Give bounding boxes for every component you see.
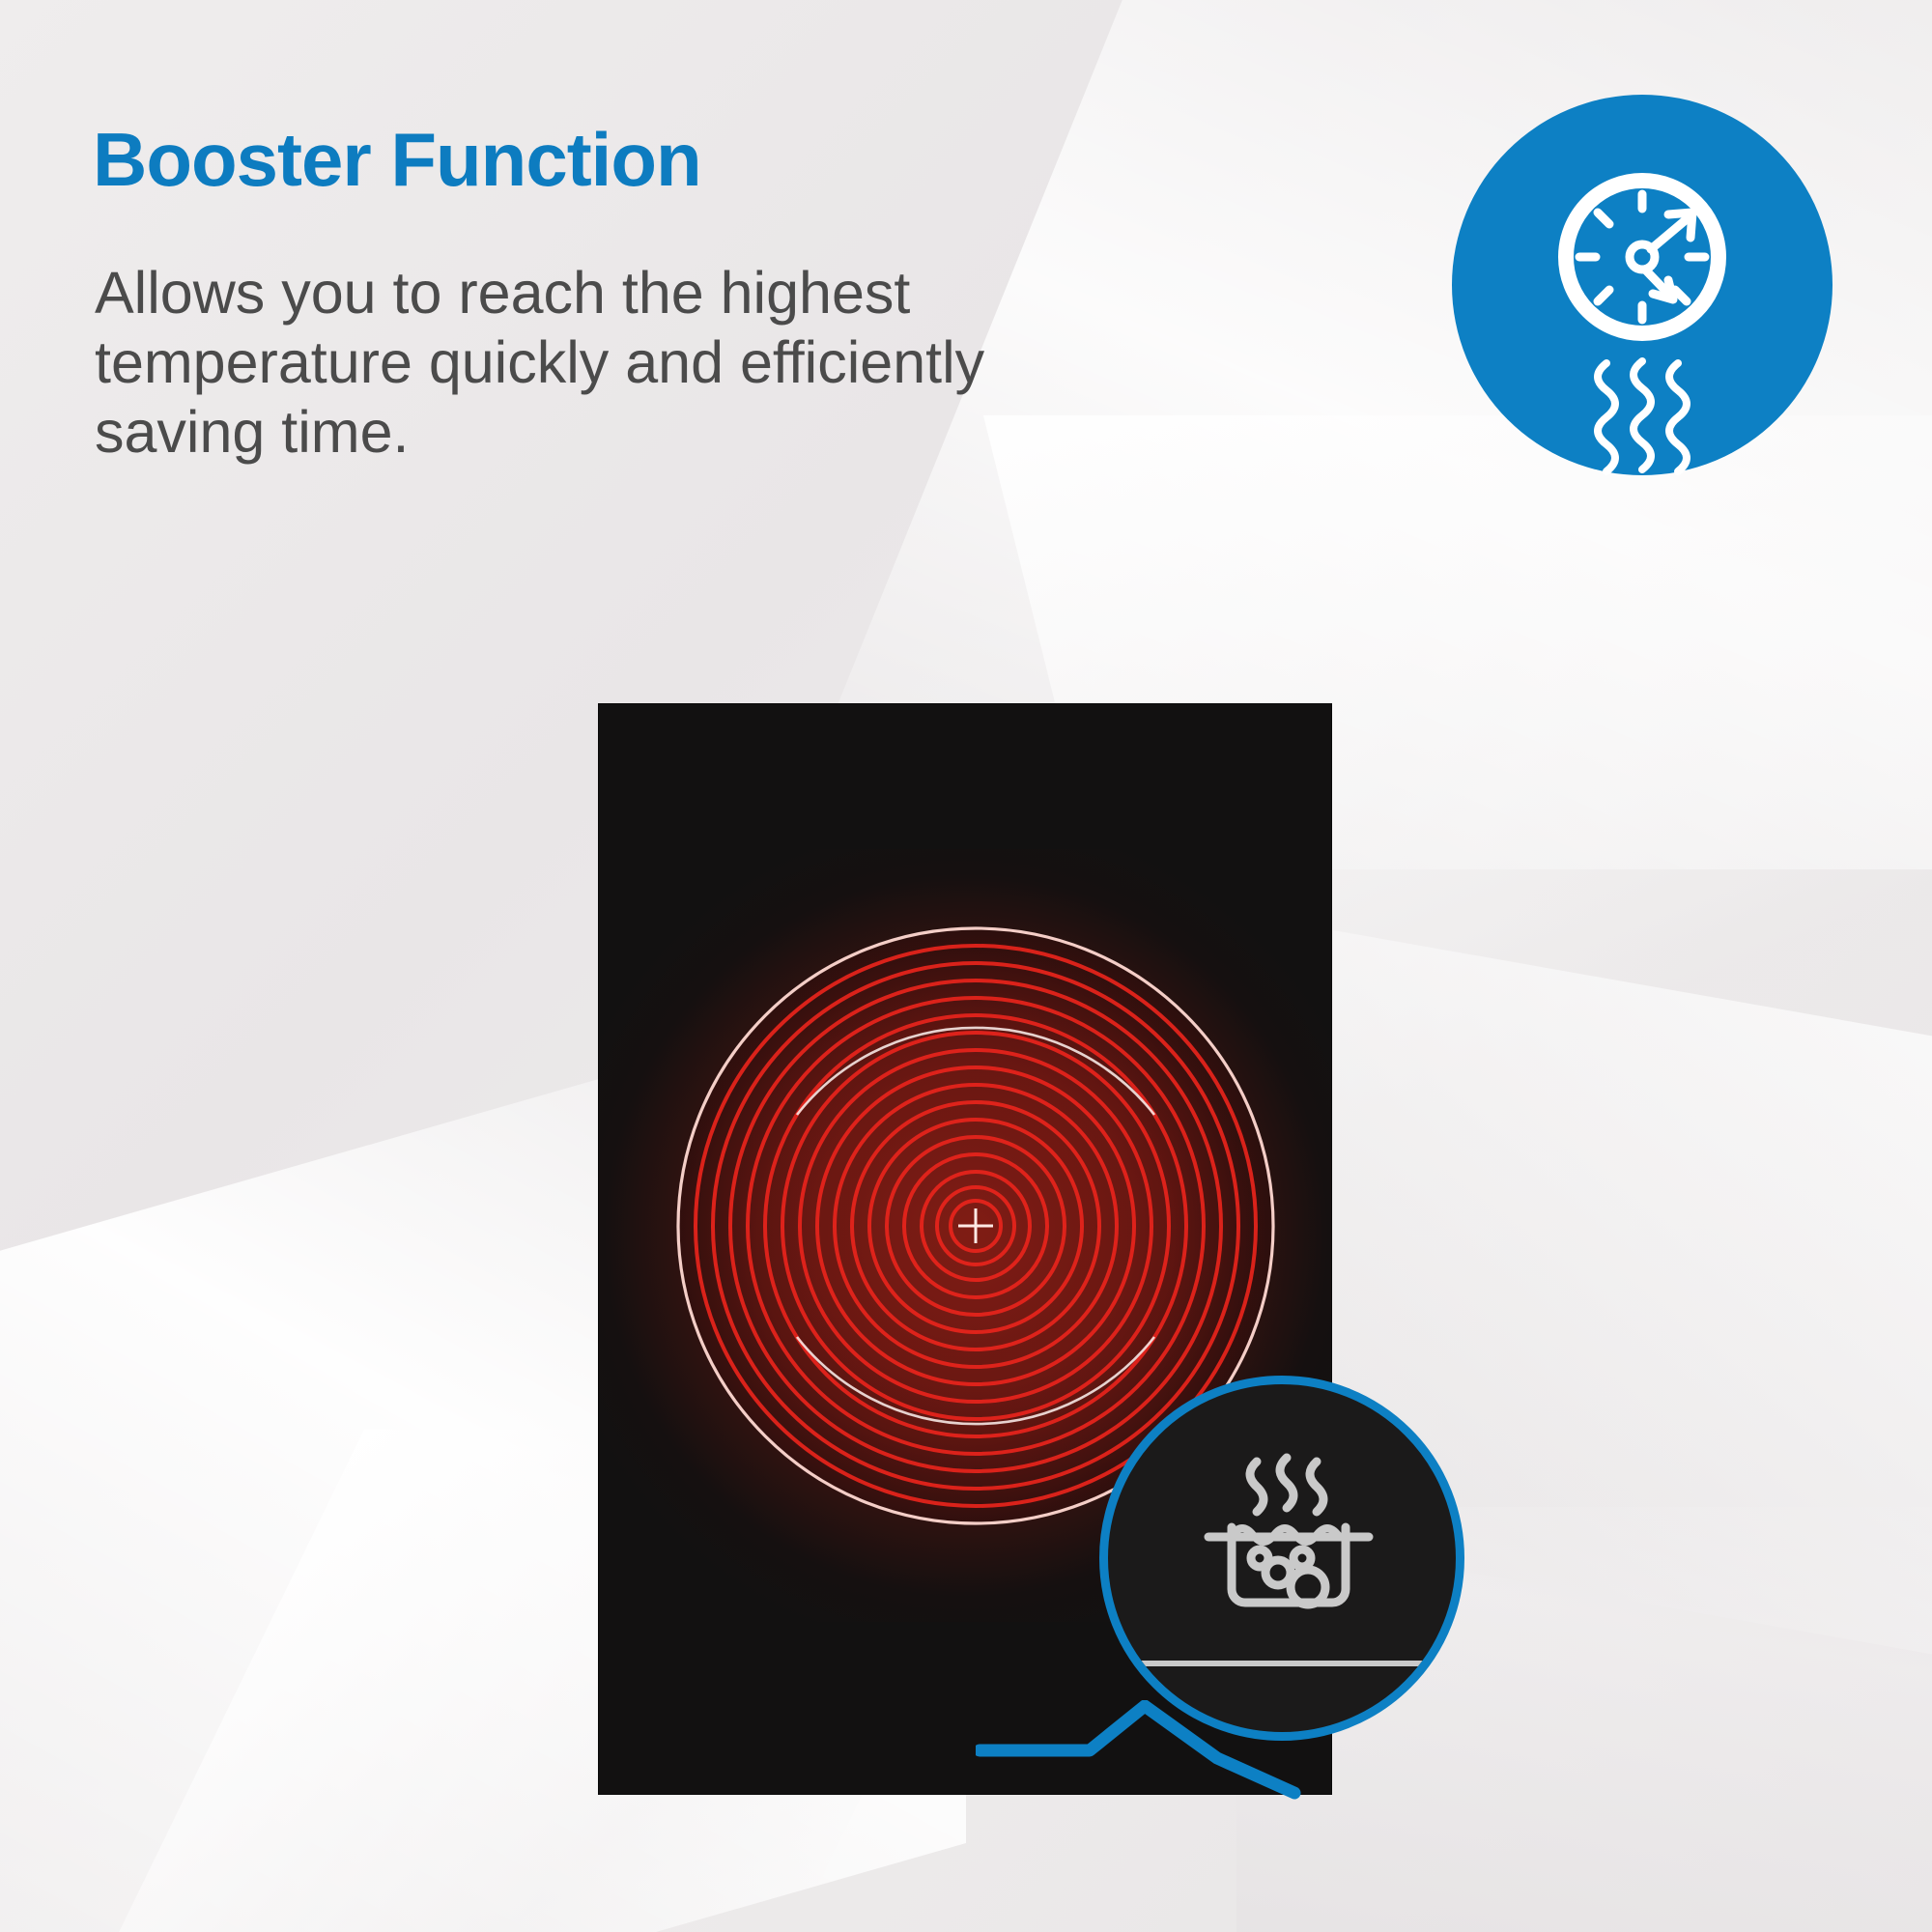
- heat-wave-icon: [1634, 361, 1651, 469]
- booster-badge: [1452, 95, 1833, 475]
- page-title: Booster Function: [93, 122, 1059, 197]
- heat-wave-icon: [1669, 363, 1687, 471]
- callout-panel-edge: [1127, 1661, 1456, 1666]
- rapid-boil-pot-icon: [1178, 1452, 1400, 1640]
- promo-canvas: Booster Function Allows you to reach the…: [0, 0, 1932, 1932]
- booster-callout: [1099, 1376, 1464, 1741]
- page-description: Allows you to reach the highest temperat…: [95, 259, 1022, 468]
- badge-artwork: [1452, 95, 1833, 475]
- callout-icon-wrapper: [1178, 1452, 1400, 1640]
- heat-wave-icon: [1598, 363, 1615, 471]
